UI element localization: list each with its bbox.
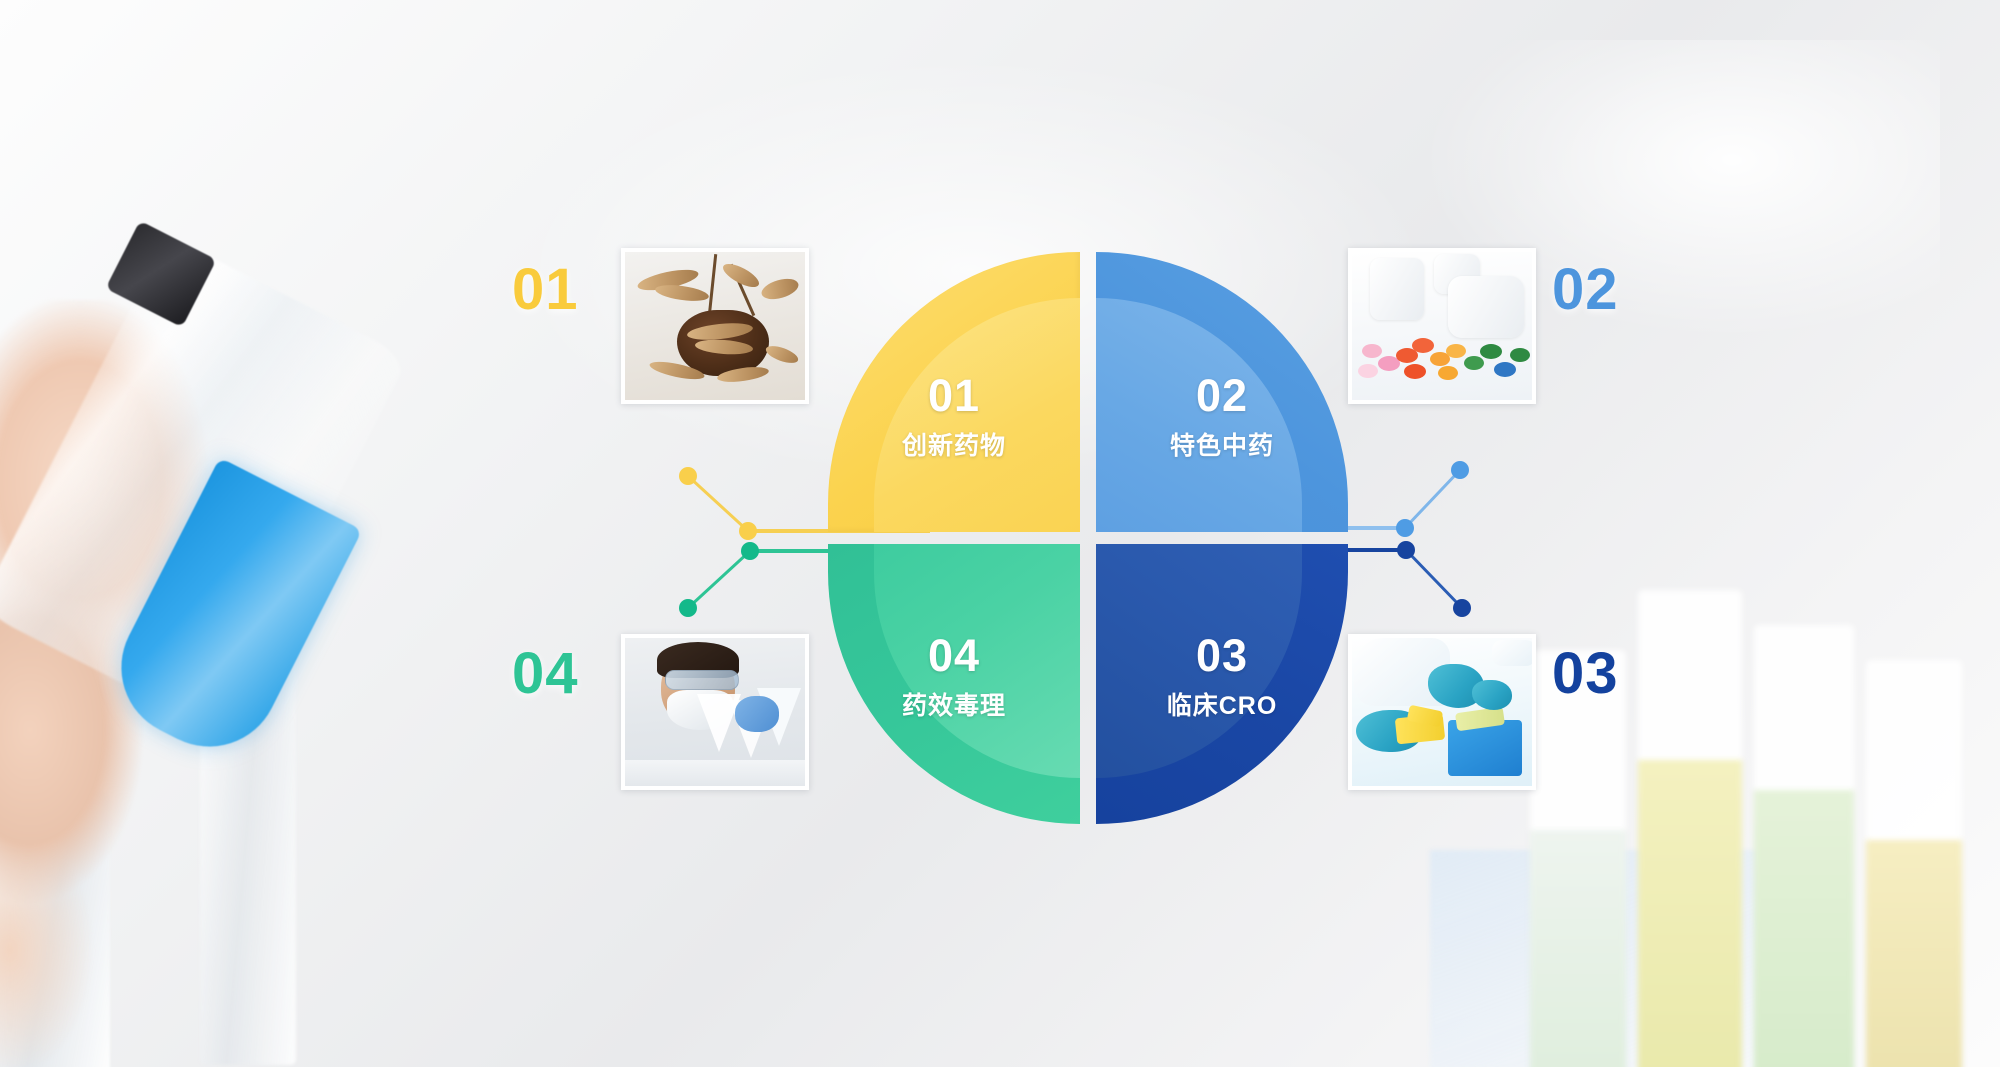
segment-03-caption: 临床CRO	[1096, 686, 1348, 722]
connector-line-04-diagonal	[688, 551, 750, 608]
segment-04-caption: 药效毒理	[828, 686, 1080, 722]
background-bottom-left-cylinder	[0, 790, 110, 1067]
thumbnail-03-gloved-hands-capsules[interactable]	[1348, 634, 1536, 790]
connector-line-01-diagonal	[688, 476, 748, 531]
connector-line-02-diagonal	[1405, 470, 1460, 528]
connector-dot-02-outer	[1451, 461, 1469, 479]
background-hand	[0, 300, 300, 1067]
background-light-panel	[1430, 850, 1760, 1067]
connector-line-03-diagonal	[1406, 550, 1462, 608]
background-right-tube-rack	[1520, 560, 2000, 1067]
connector-dot-04-joint	[741, 542, 759, 560]
segment-01-caption: 创新药物	[828, 426, 1080, 462]
segment-03-label: 03 临床CRO	[1096, 632, 1348, 722]
segment-03-number: 03	[1096, 632, 1348, 679]
connector-dot-01-joint	[739, 522, 757, 540]
segment-01-number: 01	[828, 372, 1080, 419]
background-test-tube-liquid	[97, 457, 362, 770]
side-number-03: 03	[1552, 640, 1619, 707]
segment-03-clinical-cro[interactable]: 03 临床CRO	[1096, 544, 1348, 824]
segment-02-caption: 特色中药	[1096, 426, 1348, 462]
gloved-hands-capsules-photo	[1352, 638, 1532, 786]
thumbnail-02-pills-bottles[interactable]	[1348, 248, 1536, 404]
segment-02-traditional-chinese-medicine[interactable]: 02 特色中药	[1096, 252, 1348, 532]
herbal-medicine-bowl-photo	[625, 252, 805, 400]
segment-02-label: 02 特色中药	[1096, 372, 1348, 462]
side-number-02: 02	[1552, 256, 1619, 323]
background-test-tube-glass	[0, 235, 409, 732]
thumbnail-04-lab-scientist[interactable]	[621, 634, 809, 790]
colorful-pills-bottles-photo	[1352, 252, 1532, 400]
thumbnail-01-herbal-medicine[interactable]	[621, 248, 809, 404]
connector-dot-04-outer	[679, 599, 697, 617]
lab-scientist-mask-photo	[625, 638, 805, 786]
segment-01-label: 01 创新药物	[828, 372, 1080, 462]
background-rack-tube	[200, 560, 296, 1065]
connector-dot-03-outer	[1453, 599, 1471, 617]
infographic-canvas: 01 创新药物 02 特色中药 03 临床CRO 04	[0, 0, 2000, 1067]
side-number-01: 01	[512, 256, 579, 323]
connector-dot-01-outer	[679, 467, 697, 485]
connector-dot-02-joint	[1396, 519, 1414, 537]
segment-04-pharmacology-toxicology[interactable]: 04 药效毒理	[828, 544, 1080, 824]
segment-02-number: 02	[1096, 372, 1348, 419]
background-test-tube-cap	[105, 221, 216, 328]
segment-04-label: 04 药效毒理	[828, 632, 1080, 722]
segment-01-innovative-drugs[interactable]: 01 创新药物	[828, 252, 1080, 532]
side-number-04: 04	[512, 640, 579, 707]
segment-04-number: 04	[828, 632, 1080, 679]
quadrant-wheel: 01 创新药物 02 特色中药 03 临床CRO 04	[828, 252, 1348, 824]
connector-dot-03-joint	[1397, 541, 1415, 559]
